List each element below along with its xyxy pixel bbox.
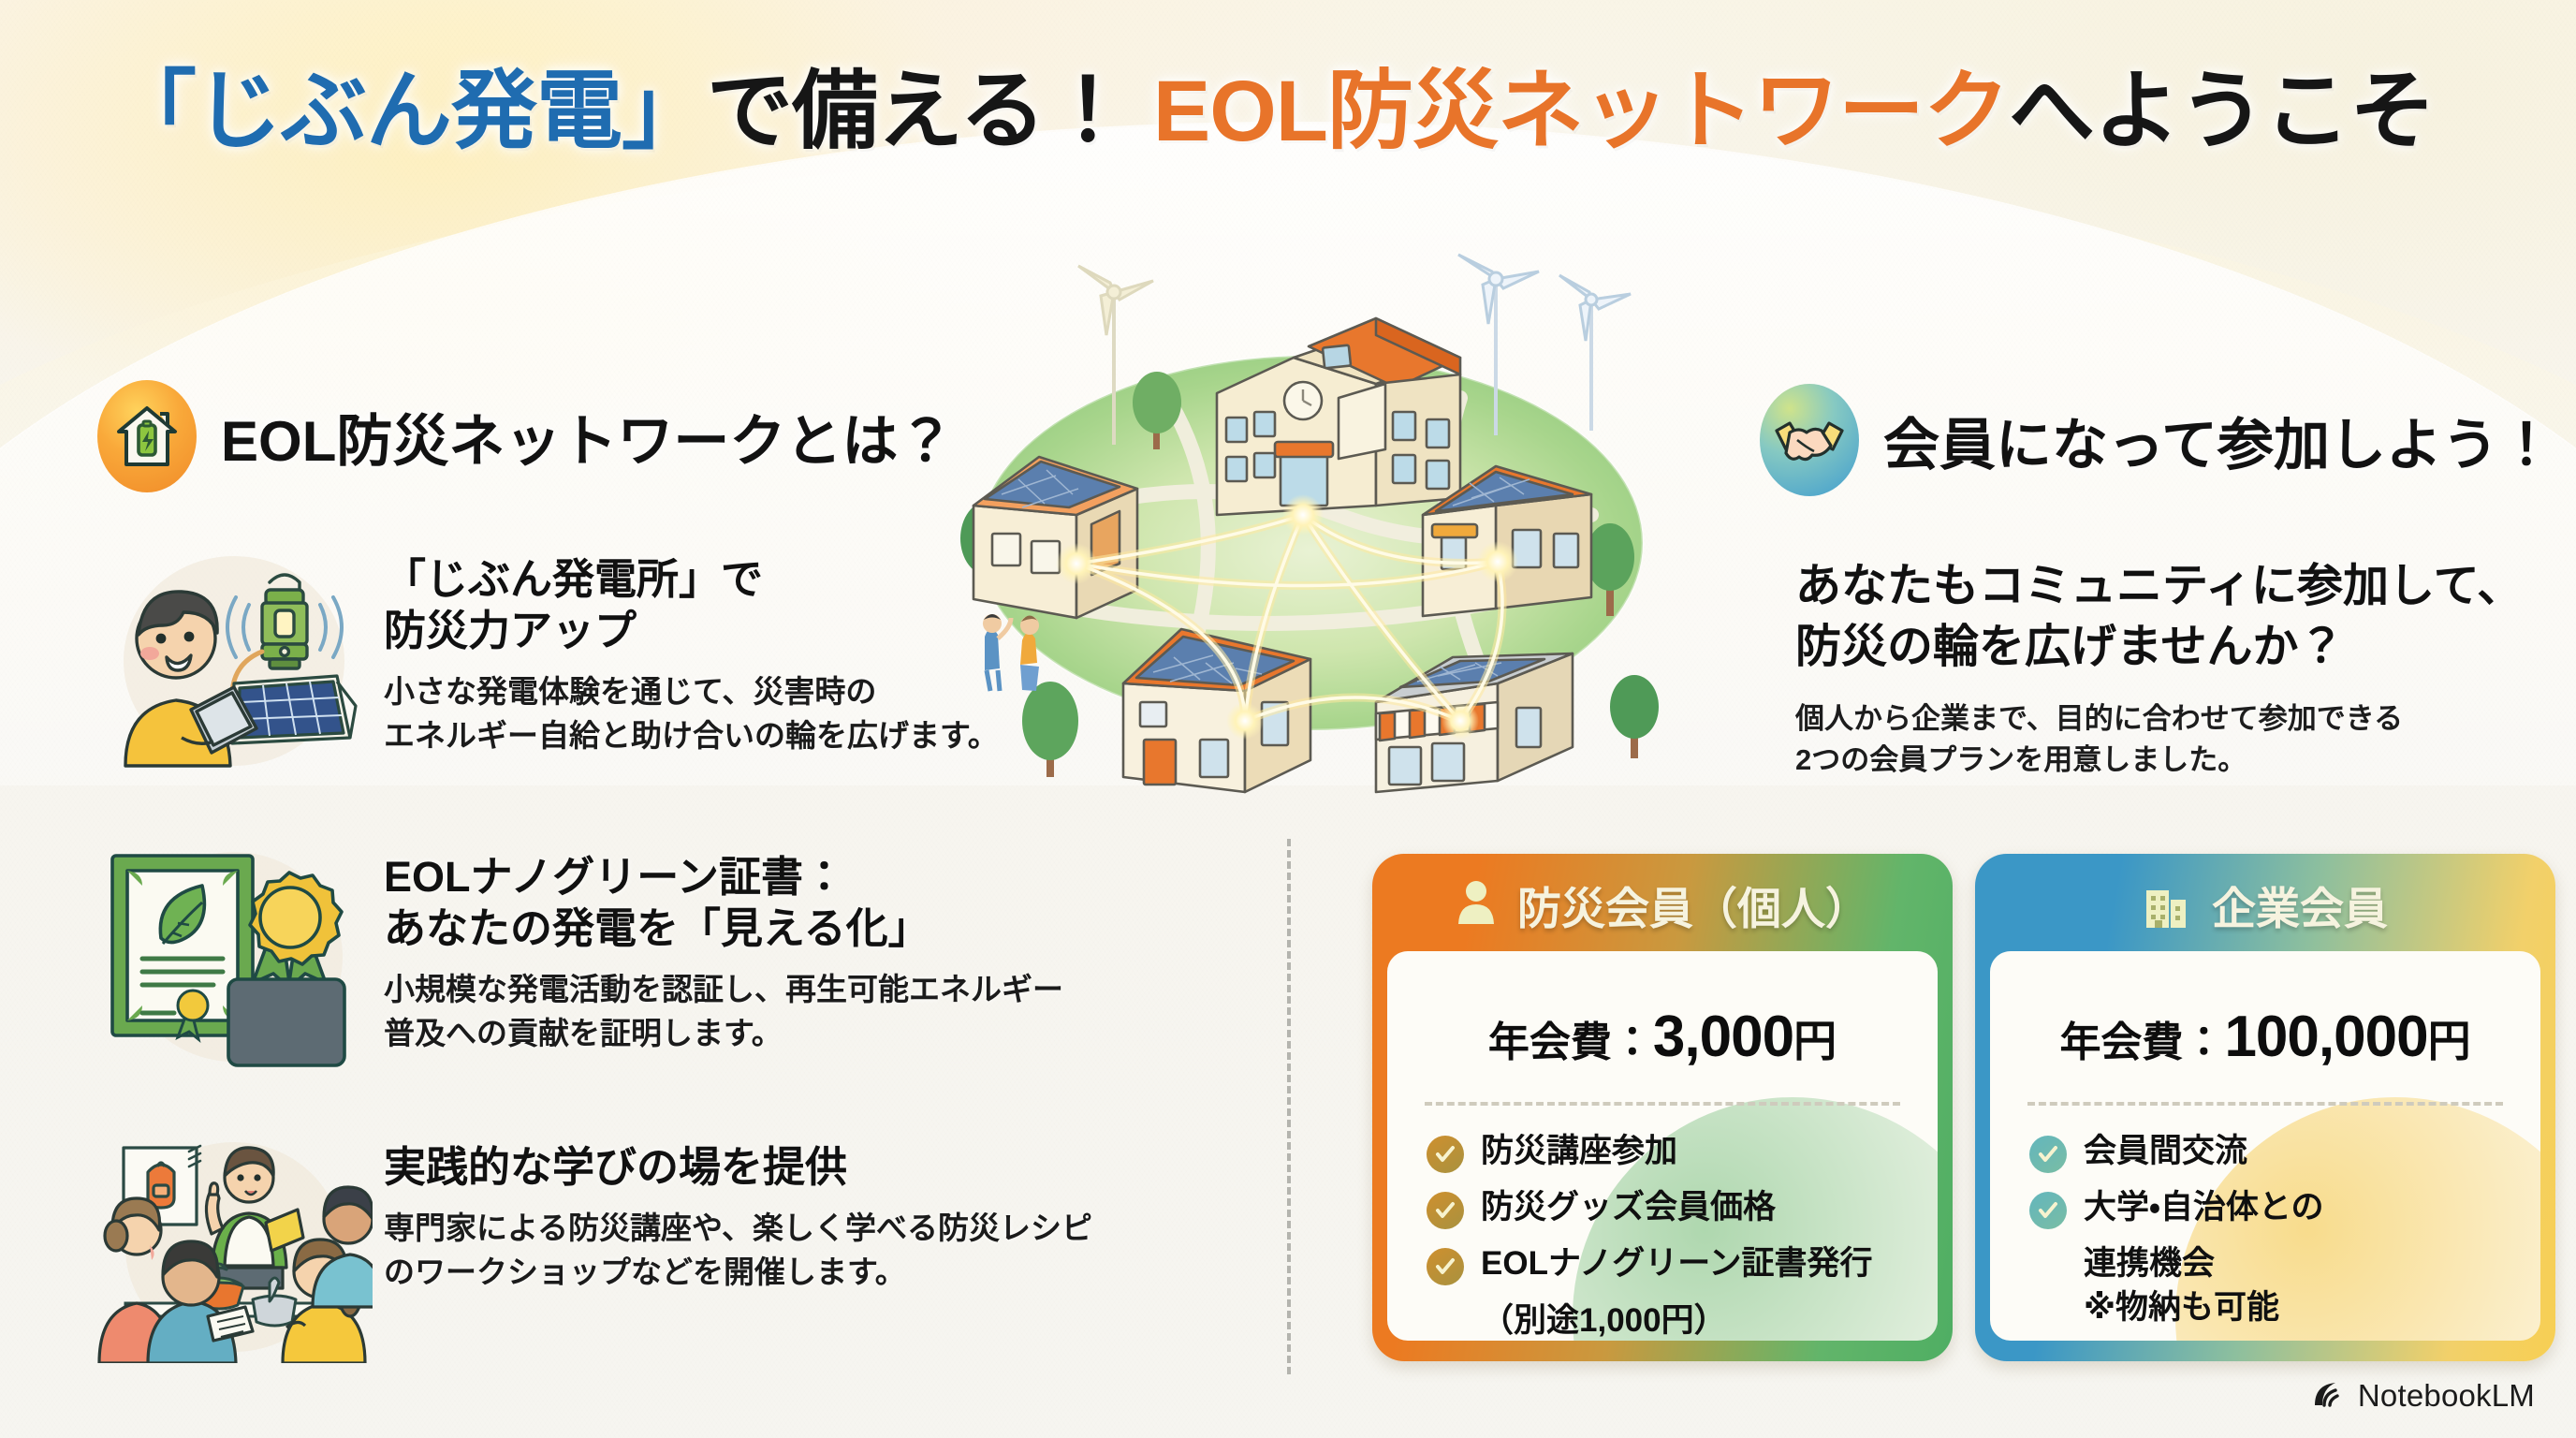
- benefit-item: 防災グッズ会員価格: [1427, 1186, 1938, 1229]
- right-section-heading-label: 会員になって参加しよう！: [1883, 400, 2554, 481]
- handshake-icon: [1760, 384, 1859, 496]
- feature-2-body: 小規模な発電活動を認証し、再生可能エネルギー 普及への貢献を証明します。: [384, 968, 1063, 1056]
- workshop-group-illustration: [92, 1129, 373, 1363]
- benefit-item: 大学・自治体との: [2029, 1186, 2540, 1229]
- house-battery-icon: [97, 380, 197, 492]
- building-icon: [2143, 877, 2191, 932]
- left-section-heading: EOL防災ネットワークとは？: [97, 380, 954, 492]
- notebooklm-icon: [2311, 1379, 2345, 1414]
- right-section-lead: あなたもコミュニティに参加して、 防災の輪を広げませんか？ 個人から企業まで、目…: [1795, 556, 2576, 781]
- right-lead-body: 個人から企業まで、目的に合わせて参加できる 2つの会員プランを用意しました。: [1795, 698, 2576, 781]
- feature-row-workshop: 実践的な学びの場を提供 専門家による防災講座や、楽しく学べる防災レシピ のワーク…: [92, 1129, 1252, 1363]
- title-part-blue: 「じぶん発電」: [110, 64, 707, 159]
- plan-card-personal-body: 年会費：3,000円 防災講座参加 防災グッズ会員価格 EOLナノグリーン証書発…: [1387, 951, 1938, 1341]
- certificate-medal-illustration: [92, 839, 373, 1073]
- plan-corporate-fee: 年会費：100,000円: [1990, 1004, 2540, 1070]
- feature-row-self-generation: 「じぶん発電所」で 防災力アップ 小さな発電体験を通じて、災害時の エネルギー自…: [92, 541, 1243, 775]
- check-icon: [1427, 1136, 1464, 1173]
- notebooklm-footer: NotebookLM: [2311, 1378, 2535, 1414]
- feature-1-body: 小さな発電体験を通じて、災害時の エネルギー自給と助け合いの輪を広げます。: [384, 670, 999, 758]
- feature-2-title: EOLナノグリーン証書： あなたの発電を「見える化」: [384, 852, 1063, 955]
- title-part-orange: EOL防災ネットワーク: [1153, 64, 2009, 159]
- check-icon: [2029, 1192, 2067, 1229]
- benefit-item: EOLナノグリーン証書発行: [1427, 1242, 1938, 1285]
- plan-card-corporate[interactable]: 企業会員 年会費：100,000円 会員間交流 大学・自治体との 連携機会 ※物…: [1975, 854, 2555, 1361]
- benefit-item: 防災講座参加: [1427, 1130, 1938, 1173]
- plan-corporate-note: ※物納も可能: [2084, 1286, 2540, 1329]
- check-icon: [1427, 1192, 1464, 1229]
- plan-card-personal-title: 防災会員（個人）: [1517, 873, 1869, 937]
- feature-1-title: 「じぶん発電所」で 防災力アップ: [384, 554, 999, 657]
- page-title: 「じぶん発電」で備える！ EOL防災ネットワークへようこそ: [110, 41, 2507, 166]
- right-lead-heading: あなたもコミュニティに参加して、 防災の輪を広げませんか？: [1795, 556, 2576, 678]
- plan-card-personal[interactable]: 防災会員（個人） 年会費：3,000円 防災講座参加 防災グッズ会員価格 EO: [1372, 854, 1953, 1361]
- vertical-dashed-divider: [1287, 839, 1291, 1374]
- plan-personal-benefits: 防災講座参加 防災グッズ会員価格 EOLナノグリーン証書発行 （別途1,000円…: [1427, 1130, 1938, 1341]
- person-solar-lantern-illustration: [92, 541, 373, 775]
- check-icon: [1427, 1248, 1464, 1285]
- plan-card-corporate-body: 年会費：100,000円 会員間交流 大学・自治体との 連携機会 ※物納も可能: [1990, 951, 2540, 1341]
- plan-corporate-benefit-continuation: 連携機会: [2084, 1242, 2540, 1285]
- feature-3-body: 専門家による防災講座や、楽しく学べる防災レシピ のワークショップなどを開催します…: [384, 1207, 1092, 1295]
- benefit-item: 会員間交流: [2029, 1130, 2540, 1173]
- title-part-dark-1: で備える！: [707, 64, 1130, 159]
- feature-row-certificate: EOLナノグリーン証書： あなたの発電を「見える化」 小規模な発電活動を認証し、…: [92, 839, 1252, 1073]
- person-icon: [1456, 879, 1497, 931]
- notebooklm-label: NotebookLM: [2358, 1378, 2535, 1414]
- plan-personal-fee: 年会費：3,000円: [1387, 1004, 1938, 1070]
- plan-card-personal-header: 防災会員（個人）: [1372, 854, 1953, 955]
- plan-personal-note: （別途1,000円）: [1481, 1299, 1938, 1341]
- plan-corporate-benefits: 会員間交流 大学・自治体との 連携機会 ※物納も可能: [2029, 1130, 2540, 1329]
- left-section-heading-label: EOL防災ネットワークとは？: [221, 396, 954, 477]
- right-section-heading: 会員になって参加しよう！: [1760, 384, 2554, 496]
- feature-3-title: 実践的な学びの場を提供: [384, 1142, 1092, 1194]
- title-part-dark-2: へようこそ: [2009, 64, 2435, 159]
- plan-personal-separator: [1425, 1102, 1900, 1106]
- check-icon: [2029, 1136, 2067, 1173]
- plan-corporate-separator: [2027, 1102, 2503, 1106]
- plan-card-corporate-header: 企業会員: [1975, 854, 2555, 955]
- plan-card-corporate-title: 企業会員: [2212, 873, 2388, 937]
